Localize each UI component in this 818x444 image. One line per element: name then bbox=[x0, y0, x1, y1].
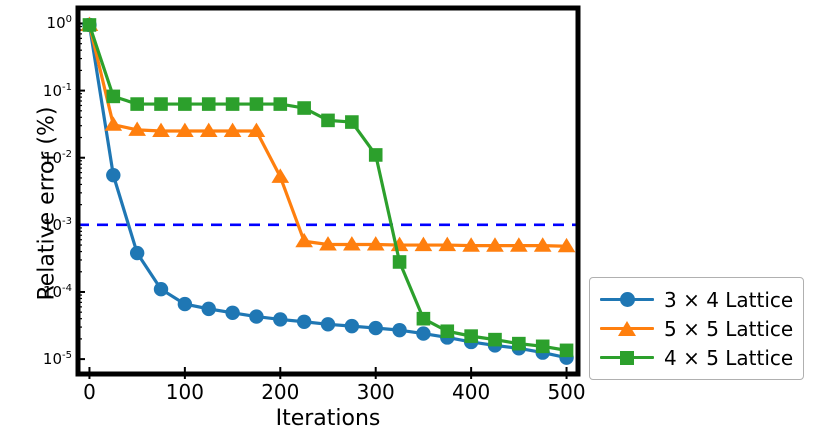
series-2 bbox=[83, 18, 574, 357]
data-point bbox=[249, 309, 263, 323]
data-point bbox=[250, 97, 264, 111]
data-point bbox=[345, 115, 359, 129]
legend-marker-triangle-icon bbox=[618, 321, 636, 336]
legend-swatch-series-1 bbox=[600, 319, 654, 339]
data-point bbox=[106, 168, 120, 182]
data-point bbox=[440, 324, 454, 338]
legend-item-2[interactable]: 4 × 5 Lattice bbox=[600, 343, 793, 372]
legend-swatch-series-0 bbox=[600, 290, 654, 310]
data-point bbox=[321, 114, 335, 128]
data-point bbox=[345, 319, 359, 333]
data-point bbox=[130, 246, 144, 260]
legend-item-1[interactable]: 5 × 5 Lattice bbox=[600, 314, 793, 343]
data-point bbox=[416, 326, 430, 340]
series-line bbox=[89, 25, 566, 358]
data-point bbox=[271, 168, 289, 182]
data-point bbox=[202, 97, 216, 111]
data-point bbox=[273, 312, 287, 326]
data-point bbox=[392, 323, 406, 337]
data-point bbox=[488, 333, 502, 347]
data-point bbox=[369, 148, 383, 162]
data-point bbox=[154, 282, 168, 296]
legend-swatch-series-2 bbox=[600, 348, 654, 368]
data-point bbox=[560, 344, 574, 358]
legend-label-2: 4 × 5 Lattice bbox=[664, 346, 793, 370]
data-point bbox=[536, 340, 550, 354]
data-point bbox=[202, 302, 216, 316]
data-point bbox=[464, 329, 478, 343]
legend-label-0: 3 × 4 Lattice bbox=[664, 288, 793, 312]
data-point bbox=[225, 306, 239, 320]
data-point bbox=[104, 116, 122, 130]
data-point bbox=[226, 97, 240, 111]
legend-marker-circle-icon bbox=[620, 292, 635, 307]
data-point bbox=[178, 97, 192, 111]
data-point bbox=[295, 233, 313, 247]
data-point bbox=[321, 317, 335, 331]
legend-marker-square-icon bbox=[620, 351, 634, 365]
data-point bbox=[417, 312, 431, 326]
data-point bbox=[297, 101, 311, 115]
data-point bbox=[369, 321, 383, 335]
data-point bbox=[393, 255, 407, 269]
series-0 bbox=[82, 18, 573, 365]
series-line bbox=[89, 25, 566, 350]
data-point bbox=[107, 90, 121, 104]
data-point bbox=[178, 297, 192, 311]
series-1 bbox=[81, 17, 576, 253]
data-point bbox=[297, 315, 311, 329]
chart-figure: Relative error (%) 10010-110-210-310-410… bbox=[0, 0, 818, 444]
chart-legend: 3 × 4 Lattice 5 × 5 Lattice 4 × 5 Lattic… bbox=[589, 277, 804, 380]
legend-item-0[interactable]: 3 × 4 Lattice bbox=[600, 285, 793, 314]
legend-label-1: 5 × 5 Lattice bbox=[664, 317, 793, 341]
data-point bbox=[83, 18, 97, 32]
data-point bbox=[130, 97, 144, 111]
data-point bbox=[512, 337, 526, 351]
data-point bbox=[154, 97, 168, 111]
data-point bbox=[273, 97, 287, 111]
